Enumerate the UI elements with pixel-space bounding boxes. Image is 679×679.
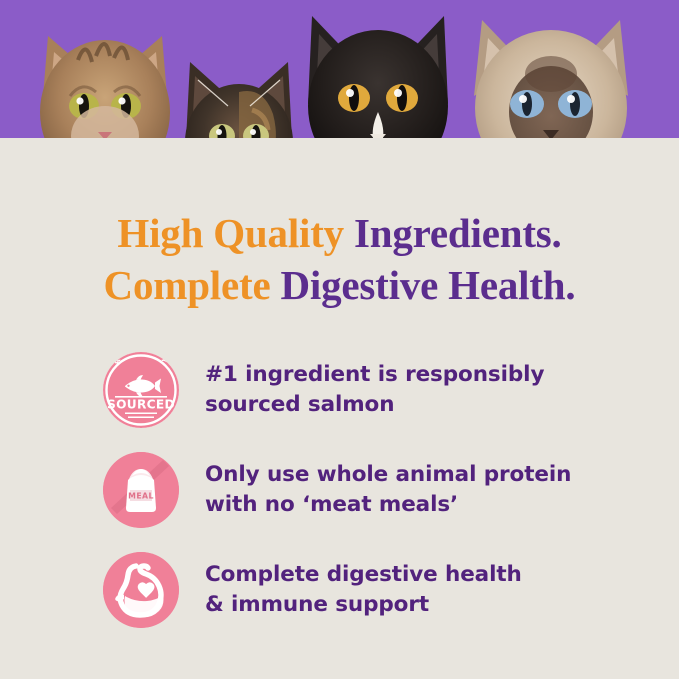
headline-line-1-orange: High Quality xyxy=(117,210,354,256)
badge-banner-text: SOURCED xyxy=(107,397,175,411)
feature-text: #1 ingredient is responsibly sourced sal… xyxy=(205,360,544,420)
hero-banner xyxy=(0,0,679,200)
feature-list: RESPONSIBLY SOURCED #1 ingre xyxy=(0,340,679,640)
feature-text-line-1: Complete digestive health xyxy=(205,560,522,590)
feature-row: Complete digestive health & immune suppo… xyxy=(0,540,679,640)
promo-page: High Quality Ingredients. Complete Diges… xyxy=(0,0,679,679)
feature-text-line-2: sourced salmon xyxy=(205,390,544,420)
feature-text-line-1: #1 ingredient is responsibly xyxy=(205,360,544,390)
feature-text: Only use whole animal protein with no ‘m… xyxy=(205,460,571,520)
headline-line-2: Complete Digestive Health. xyxy=(0,259,679,311)
responsibly-sourced-fish-badge-icon: RESPONSIBLY SOURCED xyxy=(103,352,179,428)
feature-text: Complete digestive health & immune suppo… xyxy=(205,560,522,620)
feature-text-line-1: Only use whole animal protein xyxy=(205,460,571,490)
badge-bag-text: MEAL xyxy=(128,492,154,501)
feature-text-line-2: with no ‘meat meals’ xyxy=(205,490,571,520)
headline-line-1-purple: Ingredients. xyxy=(354,210,562,256)
cream-arc-fill xyxy=(0,196,679,200)
headline-line-2-purple: Digestive Health. xyxy=(281,262,576,308)
stomach-heart-digestive-badge-icon xyxy=(103,552,179,628)
headline-line-2-orange: Complete xyxy=(104,262,281,308)
page-title: High Quality Ingredients. Complete Diges… xyxy=(0,207,679,311)
feature-row: MEAL Only use whole animal protein with … xyxy=(0,440,679,540)
no-meat-meal-bag-badge-icon: MEAL xyxy=(103,452,179,528)
feature-row: RESPONSIBLY SOURCED #1 ingre xyxy=(0,340,679,440)
feature-text-line-2: & immune support xyxy=(205,590,522,620)
headline-line-1: High Quality Ingredients. xyxy=(0,207,679,259)
cream-arc-divider xyxy=(0,138,679,200)
